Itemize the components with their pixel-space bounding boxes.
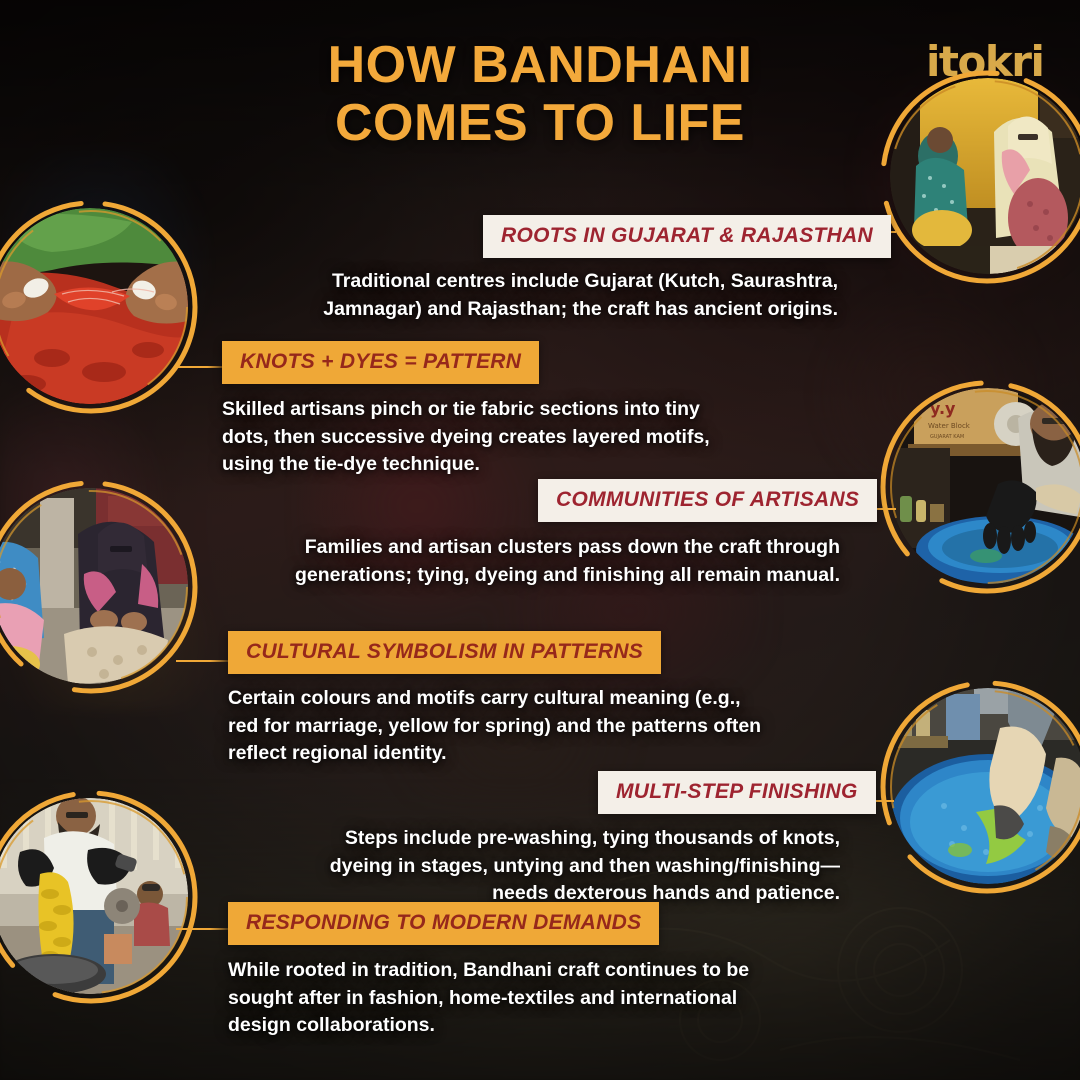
connector-line-2 [176, 366, 228, 368]
section-heading-symbolism-label: CULTURAL SYMBOLISM IN PATTERNS [246, 640, 643, 663]
section-body-modern: While rooted in tradition, Bandhani craf… [228, 957, 776, 1040]
section-body-communities: Families and artisan clusters pass down … [244, 534, 840, 589]
photo-indigo-dye-vat-art [890, 688, 1080, 884]
photo-women-tying-yellow-wall-art [890, 78, 1080, 274]
section-body-finishing: Steps include pre-washing, tying thousan… [300, 825, 840, 908]
photo-women-seated-tying-art [0, 488, 188, 684]
section-heading-symbolism: CULTURAL SYMBOLISM IN PATTERNS [228, 631, 661, 674]
photo-lifting-yellow-fabric [0, 798, 188, 994]
section-heading-finishing-label: MULTI-STEP FINISHING [616, 780, 858, 803]
section-heading-roots-label: ROOTS IN GUJARAT & RAJASTHAN [501, 224, 873, 247]
infographic-canvas: HOW BANDHANI COMES TO LIFE itokri [0, 0, 1080, 1080]
section-heading-roots: ROOTS IN GUJARAT & RAJASTHAN [483, 215, 891, 258]
section-body-roots: Traditional centres include Gujarat (Kut… [260, 268, 838, 323]
section-heading-finishing: MULTI-STEP FINISHING [598, 771, 876, 814]
page-title: HOW BANDHANI COMES TO LIFE [240, 36, 840, 152]
connector-line-6 [176, 928, 232, 930]
photo-indigo-dye-vat [890, 688, 1080, 884]
section-heading-modern: RESPONDING TO MODERN DEMANDS [228, 902, 659, 945]
section-heading-knots-label: KNOTS + DYES = PATTERN [240, 350, 521, 373]
photo-hands-tying-red-fabric-art [0, 208, 188, 404]
page-title-line-2: COMES TO LIFE [240, 94, 840, 152]
section-heading-communities-label: COMMUNITIES OF ARTISANS [556, 488, 859, 511]
svg-text:Water Block: Water Block [928, 422, 971, 430]
photo-women-tying-yellow-wall [890, 78, 1080, 274]
connector-line-4 [176, 660, 232, 662]
section-heading-knots: KNOTS + DYES = PATTERN [222, 341, 539, 384]
photo-hands-tying-red-fabric [0, 208, 188, 404]
page-title-line-1: HOW BANDHANI [240, 36, 840, 94]
section-body-knots: Skilled artisans pinch or tie fabric sec… [222, 396, 750, 479]
svg-text:GUJARAT KAM: GUJARAT KAM [930, 434, 964, 440]
photo-artisan-dyeing-blue-tub: y.y Water Block GUJARAT KAM [890, 388, 1080, 584]
photo-women-seated-tying [0, 488, 188, 684]
section-body-symbolism: Certain colours and motifs carry cultura… [228, 685, 766, 768]
section-heading-communities: COMMUNITIES OF ARTISANS [538, 479, 877, 522]
photo-artisan-dyeing-blue-tub-art: y.y Water Block GUJARAT KAM [890, 388, 1080, 584]
photo-lifting-yellow-fabric-art [0, 798, 188, 994]
section-heading-modern-label: RESPONDING TO MODERN DEMANDS [246, 911, 641, 934]
